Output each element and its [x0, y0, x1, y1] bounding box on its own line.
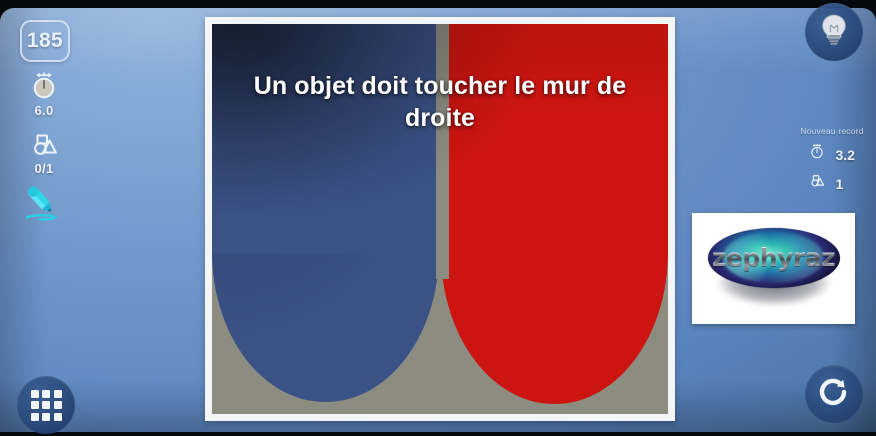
record-objects-value: 1: [836, 176, 858, 192]
record-time-row: 3.2: [788, 142, 876, 167]
objective-message-line2: droite: [236, 102, 644, 134]
left-hud: 185 6.0: [0, 0, 110, 436]
game-board-frame: Un objet doit toucher le mur de droite: [205, 17, 675, 421]
restart-button[interactable]: [805, 365, 863, 423]
pencil-icon: [20, 211, 66, 228]
objective-message: Un objet doit toucher le mur de droite: [236, 70, 644, 134]
menu-button[interactable]: [17, 376, 75, 434]
brand-logo: zephyraz: [695, 216, 852, 321]
blue-piece-upper[interactable]: [212, 24, 439, 254]
timer-stat: 6.0: [20, 72, 68, 118]
grid-icon: [31, 390, 62, 421]
record-time-value: 3.2: [836, 147, 858, 163]
hint-button[interactable]: [805, 3, 863, 61]
shapes-icon: [807, 171, 827, 196]
divider-wall: [436, 24, 449, 279]
objective-message-line1: Un objet doit toucher le mur de: [236, 70, 644, 102]
record-objects-row: 1: [788, 171, 876, 196]
objects-value: 0/1: [20, 161, 68, 176]
game-board[interactable]: Un objet doit toucher le mur de droite: [212, 24, 668, 414]
shapes-icon: [20, 130, 68, 160]
logo-wordmark: zephyraz: [701, 243, 847, 272]
lightbulb-icon: [817, 12, 851, 53]
record-title: Nouveau record: [788, 126, 876, 136]
level-badge[interactable]: 185: [20, 20, 70, 62]
logo-disc-wrapper: zephyraz: [701, 221, 847, 317]
draw-tool[interactable]: [20, 184, 66, 224]
stopwatch-icon: [20, 72, 68, 102]
brand-logo-card: zephyraz: [692, 213, 855, 324]
game-screen: 185 6.0: [0, 0, 876, 436]
timer-value: 6.0: [20, 103, 68, 118]
stopwatch-icon: [807, 142, 827, 167]
objects-stat: 0/1: [20, 130, 68, 176]
record-panel: Nouveau record 3.2: [788, 126, 876, 196]
red-piece-upper[interactable]: [441, 24, 668, 254]
refresh-icon: [817, 375, 851, 414]
